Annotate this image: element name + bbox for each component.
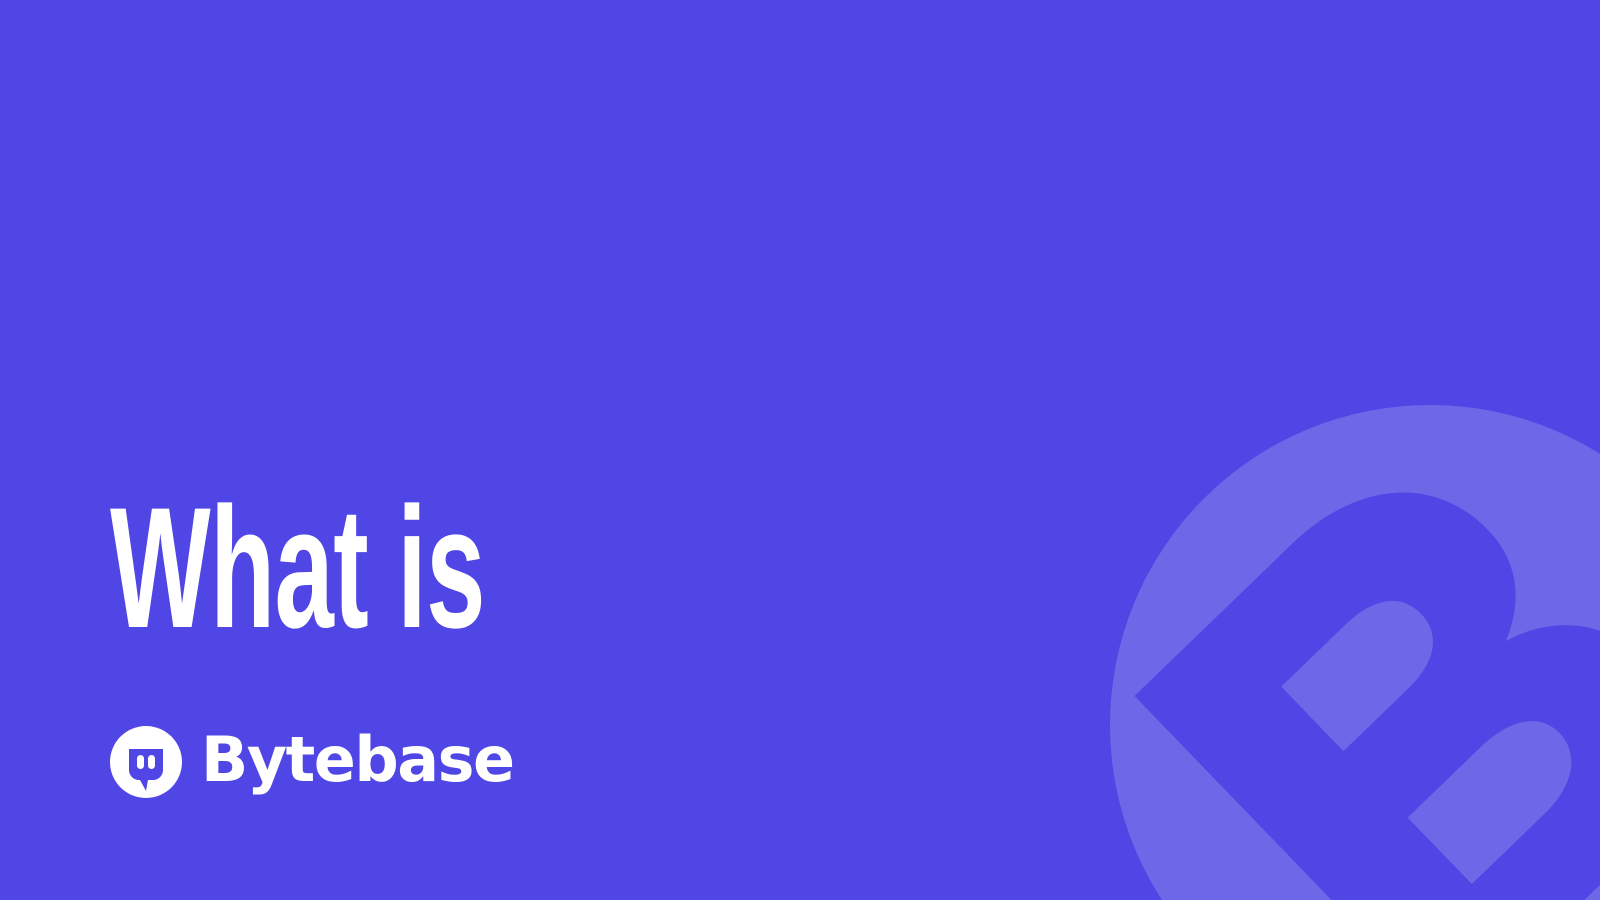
bytebase-wordmark: Bytebase [201,729,514,791]
background-circle [1110,405,1600,900]
blog-cover-card: What is Production Database Byt [0,0,1600,900]
page-title-line-1: What is [110,478,941,658]
brand-logo[interactable]: Bytebase [110,726,514,798]
bytebase-logo-icon [110,726,182,798]
background-b-letter-icon [1039,329,1600,900]
